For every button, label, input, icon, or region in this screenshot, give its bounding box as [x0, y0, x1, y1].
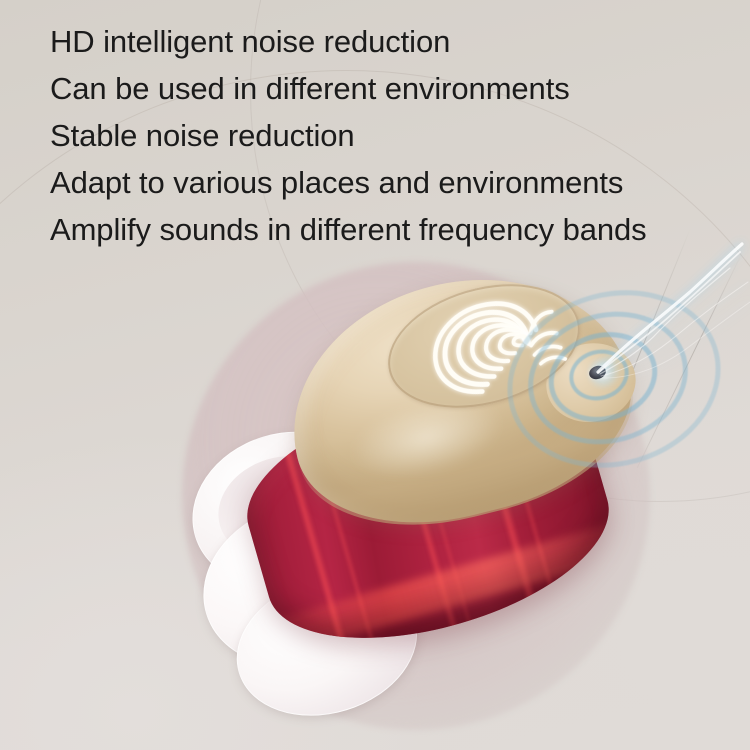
feature-line: Can be used in different environments [50, 65, 720, 112]
feature-text-block: HD intelligent noise reduction Can be us… [50, 18, 720, 253]
product-feature-image: HD intelligent noise reduction Can be us… [0, 0, 750, 750]
feature-line: Stable noise reduction [50, 112, 720, 159]
feature-line: HD intelligent noise reduction [50, 18, 720, 65]
feature-line: Amplify sounds in different frequency ba… [50, 206, 720, 253]
feature-line: Adapt to various places and environments [50, 159, 720, 206]
